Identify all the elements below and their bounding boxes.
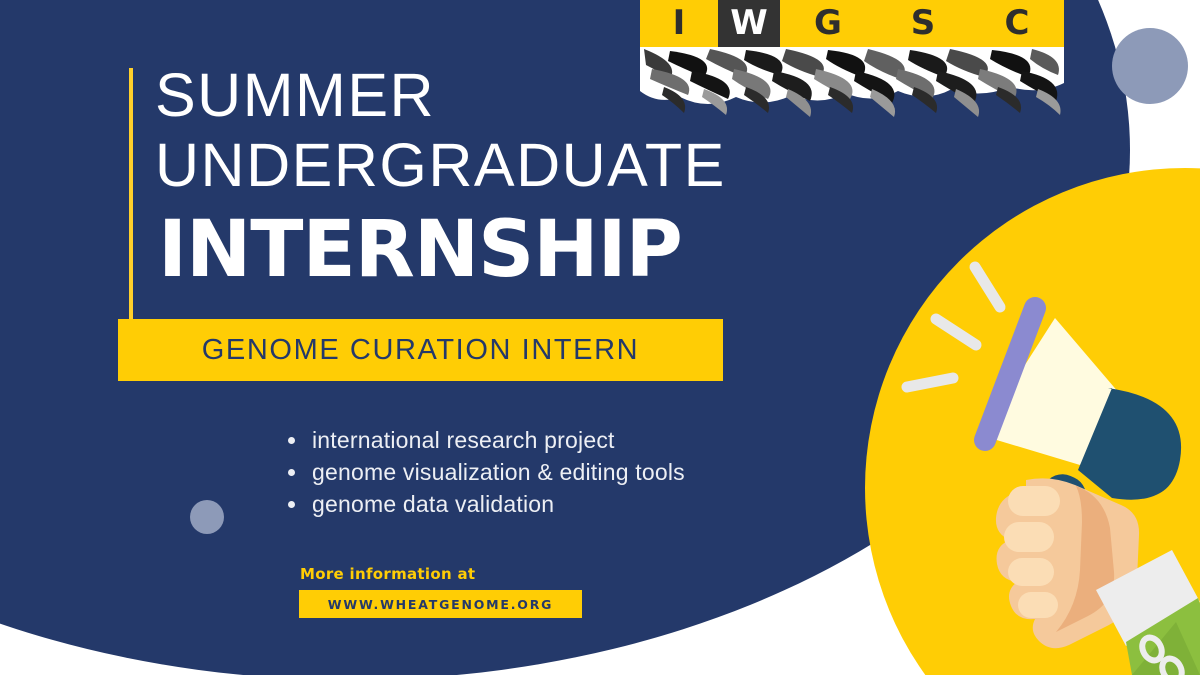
- more-information-label: More information at: [300, 565, 475, 583]
- feature-list: international research project genome vi…: [288, 424, 685, 520]
- poster-canvas: I W G S C: [0, 0, 1200, 675]
- subtitle-text: GENOME CURATION INTERN: [202, 334, 639, 367]
- speed-lines-icon: [907, 267, 1000, 387]
- logo-letter-g: G: [780, 0, 876, 47]
- logo-letter-s: S: [876, 0, 970, 47]
- title-line-undergraduate: UNDERGRADUATE: [155, 130, 795, 200]
- title-line-internship: INTERNSHIP: [158, 207, 682, 293]
- page-title-light: SUMMER UNDERGRADUATE: [155, 60, 795, 200]
- decorative-circle-top-right: [1112, 28, 1188, 104]
- list-item: genome data validation: [288, 488, 685, 520]
- subtitle-banner: GENOME CURATION INTERN: [118, 319, 723, 381]
- website-url-box[interactable]: WWW.WHEATGENOME.ORG: [299, 590, 582, 618]
- decorative-circle-left: [190, 500, 224, 534]
- logo-letter-band: I W G S C: [640, 0, 1064, 47]
- logo-letter-i: I: [640, 0, 718, 47]
- list-item: international research project: [288, 424, 685, 456]
- logo-letter-c: C: [970, 0, 1064, 47]
- website-url-text: WWW.WHEATGENOME.ORG: [328, 597, 553, 612]
- title-accent-line: [129, 68, 133, 320]
- list-item: genome visualization & editing tools: [288, 456, 685, 488]
- title-line-summer: SUMMER: [155, 61, 435, 129]
- megaphone-illustration: [880, 250, 1200, 675]
- logo-letter-w: W: [718, 0, 780, 47]
